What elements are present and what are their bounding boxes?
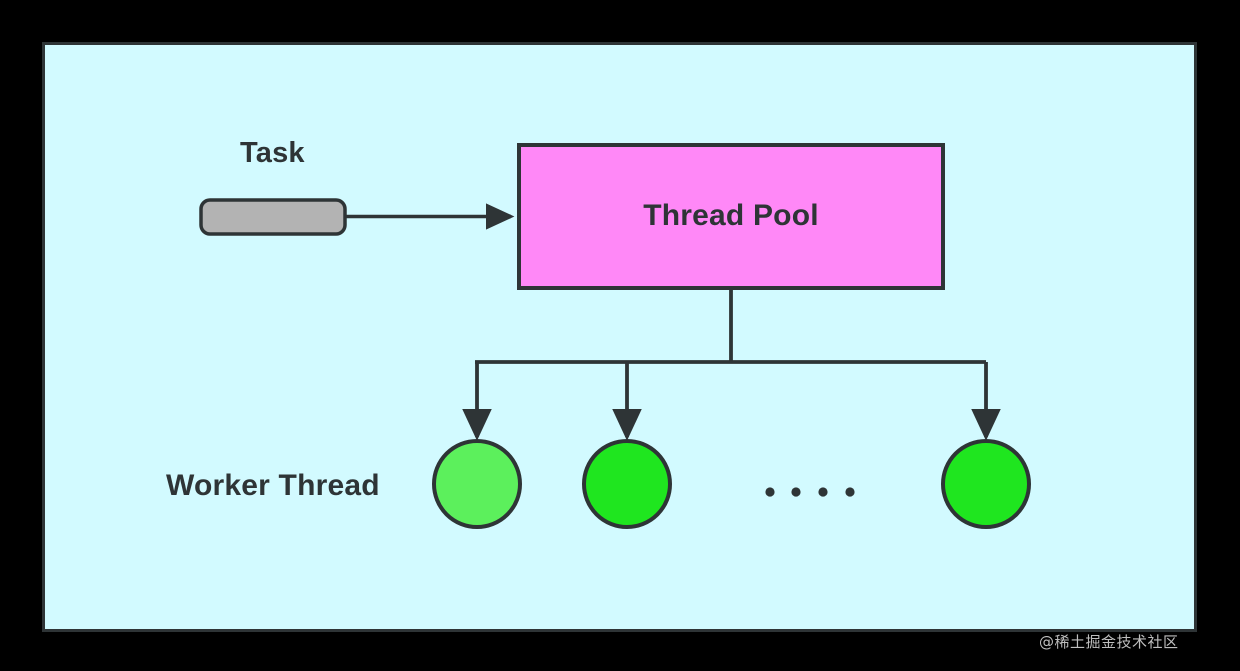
ellipsis-dot <box>818 487 827 496</box>
ellipsis-dot <box>845 487 854 496</box>
watermark: @稀土掘金技术社区 <box>1039 631 1179 652</box>
task-label: Task <box>240 137 305 170</box>
worker-thread-node-n <box>943 441 1029 527</box>
diagram-canvas: Task Thread Pool Worker Thread <box>42 42 1197 632</box>
worker-thread-node-2 <box>584 441 670 527</box>
task-node <box>201 200 345 234</box>
ellipsis-dot <box>765 487 774 496</box>
thread-pool-label: Thread Pool <box>519 199 943 233</box>
diagram-vector-layer <box>45 45 1200 635</box>
screenshot-root: Task Thread Pool Worker Thread @稀土掘金技术社区 <box>0 0 1240 671</box>
worker-thread-node-1 <box>434 441 520 527</box>
worker-thread-label: Worker Thread <box>166 469 380 503</box>
ellipsis-dot <box>791 487 800 496</box>
